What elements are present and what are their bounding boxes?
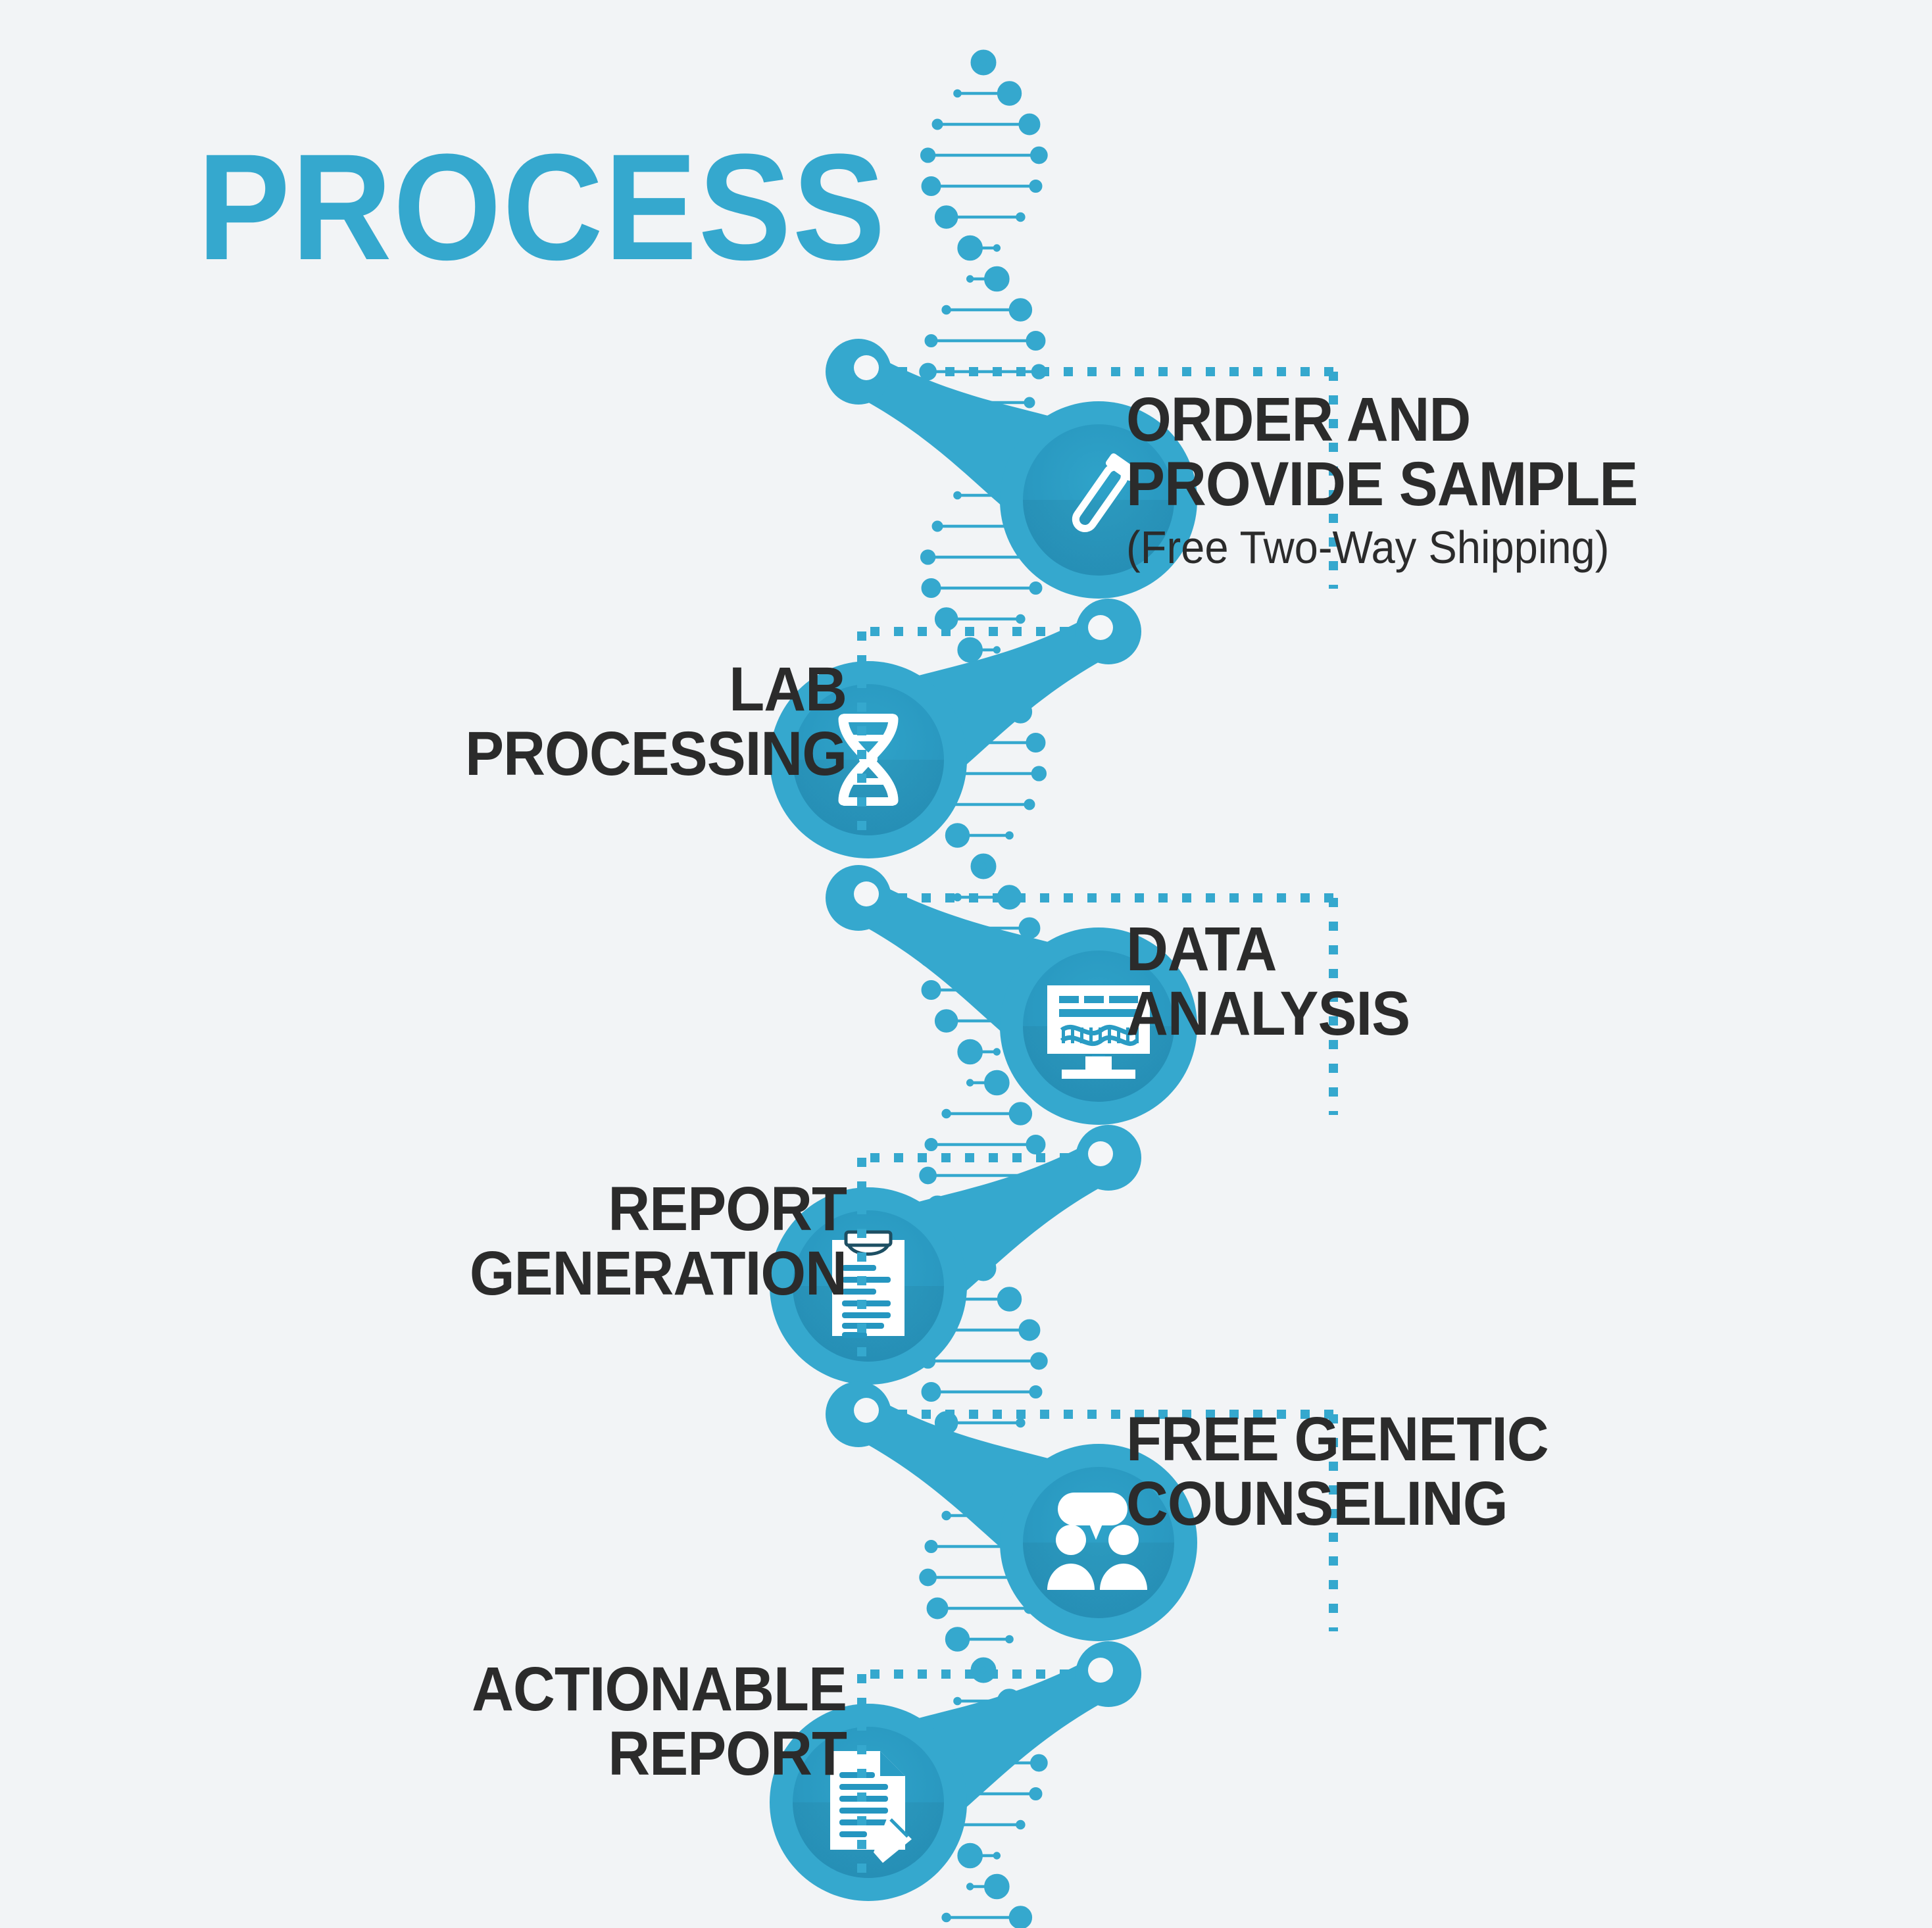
step-1-line1: ORDER AND — [1126, 388, 1799, 453]
step-1-subtitle: (Free Two-Way Shipping) — [1126, 524, 1799, 571]
step-4-line2: GENERATION — [174, 1242, 847, 1306]
step-label-1: ORDER AND PROVIDE SAMPLE (Free Two-Way S… — [1126, 388, 1799, 571]
step-2-line2: PROCESSING — [174, 722, 847, 787]
step-2-line1: LAB — [174, 658, 847, 722]
page-title: PROCESS — [197, 132, 887, 283]
infographic-canvas: PROCESS ORDER AND PROVIDE SAMPLE (Free T… — [0, 0, 1932, 1928]
step-5-line1: FREE GENETIC — [1126, 1408, 1860, 1472]
step-label-4: REPORT GENERATION — [174, 1177, 847, 1306]
step-5-line2: COUNSELING — [1126, 1472, 1860, 1537]
step-3-line1: DATA — [1126, 918, 1799, 982]
step-label-3: DATA ANALYSIS — [1126, 918, 1799, 1047]
step-4-line1: REPORT — [174, 1177, 847, 1242]
step-label-5: FREE GENETIC COUNSELING — [1126, 1408, 1860, 1537]
step-3-line2: ANALYSIS — [1126, 982, 1799, 1047]
step-1-line2: PROVIDE SAMPLE — [1126, 453, 1799, 517]
step-6-line1: ACTIONABLE — [174, 1658, 847, 1722]
step-label-2: LAB PROCESSING — [174, 658, 847, 787]
step-label-6: ACTIONABLE REPORT — [174, 1658, 847, 1787]
step-6-line2: REPORT — [174, 1722, 847, 1787]
